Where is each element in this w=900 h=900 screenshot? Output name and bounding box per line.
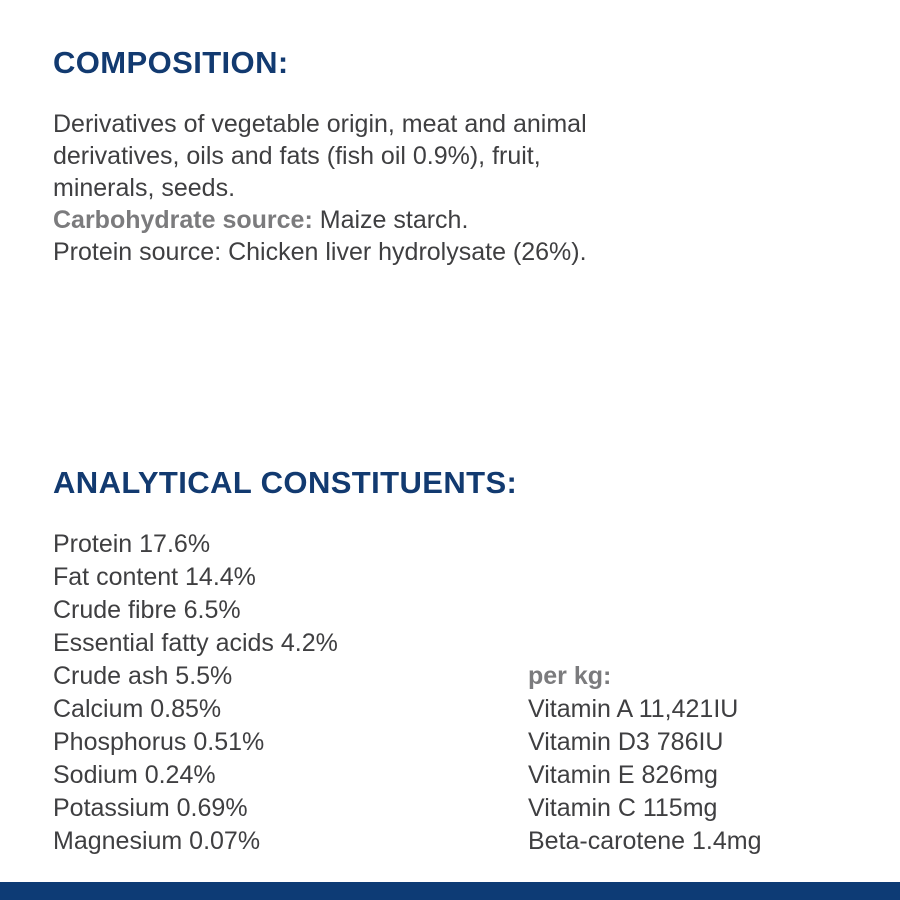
- carbohydrate-source-line: Carbohydrate source: Maize starch.: [53, 204, 853, 236]
- list-item: Vitamin C 115mg: [528, 792, 761, 825]
- list-item: Crude fibre 6.5%: [53, 594, 338, 627]
- list-item: Vitamin E 826mg: [528, 759, 761, 792]
- protein-source-line: Protein source: Chicken liver hydrolysat…: [53, 236, 853, 268]
- list-item: Vitamin A 11,421IU: [528, 693, 761, 726]
- composition-line-2: derivatives, oils and fats (fish oil 0.9…: [53, 140, 853, 172]
- constituents-left-column: Protein 17.6% Fat content 14.4% Crude fi…: [53, 528, 338, 858]
- carbohydrate-source-value: Maize starch.: [320, 206, 469, 234]
- list-item: Phosphorus 0.51%: [53, 726, 338, 759]
- list-item: Sodium 0.24%: [53, 759, 338, 792]
- list-item: Essential fatty acids 4.2%: [53, 627, 338, 660]
- per-kg-label: per kg:: [528, 660, 761, 693]
- composition-line-1: Derivatives of vegetable origin, meat an…: [53, 108, 853, 140]
- nutrition-panel: COMPOSITION: Derivatives of vegetable or…: [0, 0, 900, 900]
- carbohydrate-source-label: Carbohydrate source:: [53, 206, 313, 234]
- bottom-accent-bar: [0, 882, 900, 900]
- composition-line-3: minerals, seeds.: [53, 172, 853, 204]
- composition-heading: COMPOSITION:: [53, 46, 289, 80]
- composition-text-block: Derivatives of vegetable origin, meat an…: [53, 108, 853, 268]
- list-item: Potassium 0.69%: [53, 792, 338, 825]
- list-item: Calcium 0.85%: [53, 693, 338, 726]
- analytical-constituents-block: Protein 17.6% Fat content 14.4% Crude fi…: [0, 528, 900, 868]
- list-item: Beta-carotene 1.4mg: [528, 825, 761, 858]
- list-item: Fat content 14.4%: [53, 561, 338, 594]
- list-item: Vitamin D3 786IU: [528, 726, 761, 759]
- list-item: Protein 17.6%: [53, 528, 338, 561]
- list-item: Crude ash 5.5%: [53, 660, 338, 693]
- analytical-constituents-heading: ANALYTICAL CONSTITUENTS:: [53, 466, 517, 500]
- list-item: Magnesium 0.07%: [53, 825, 338, 858]
- constituents-right-column: per kg: Vitamin A 11,421IU Vitamin D3 78…: [528, 660, 761, 858]
